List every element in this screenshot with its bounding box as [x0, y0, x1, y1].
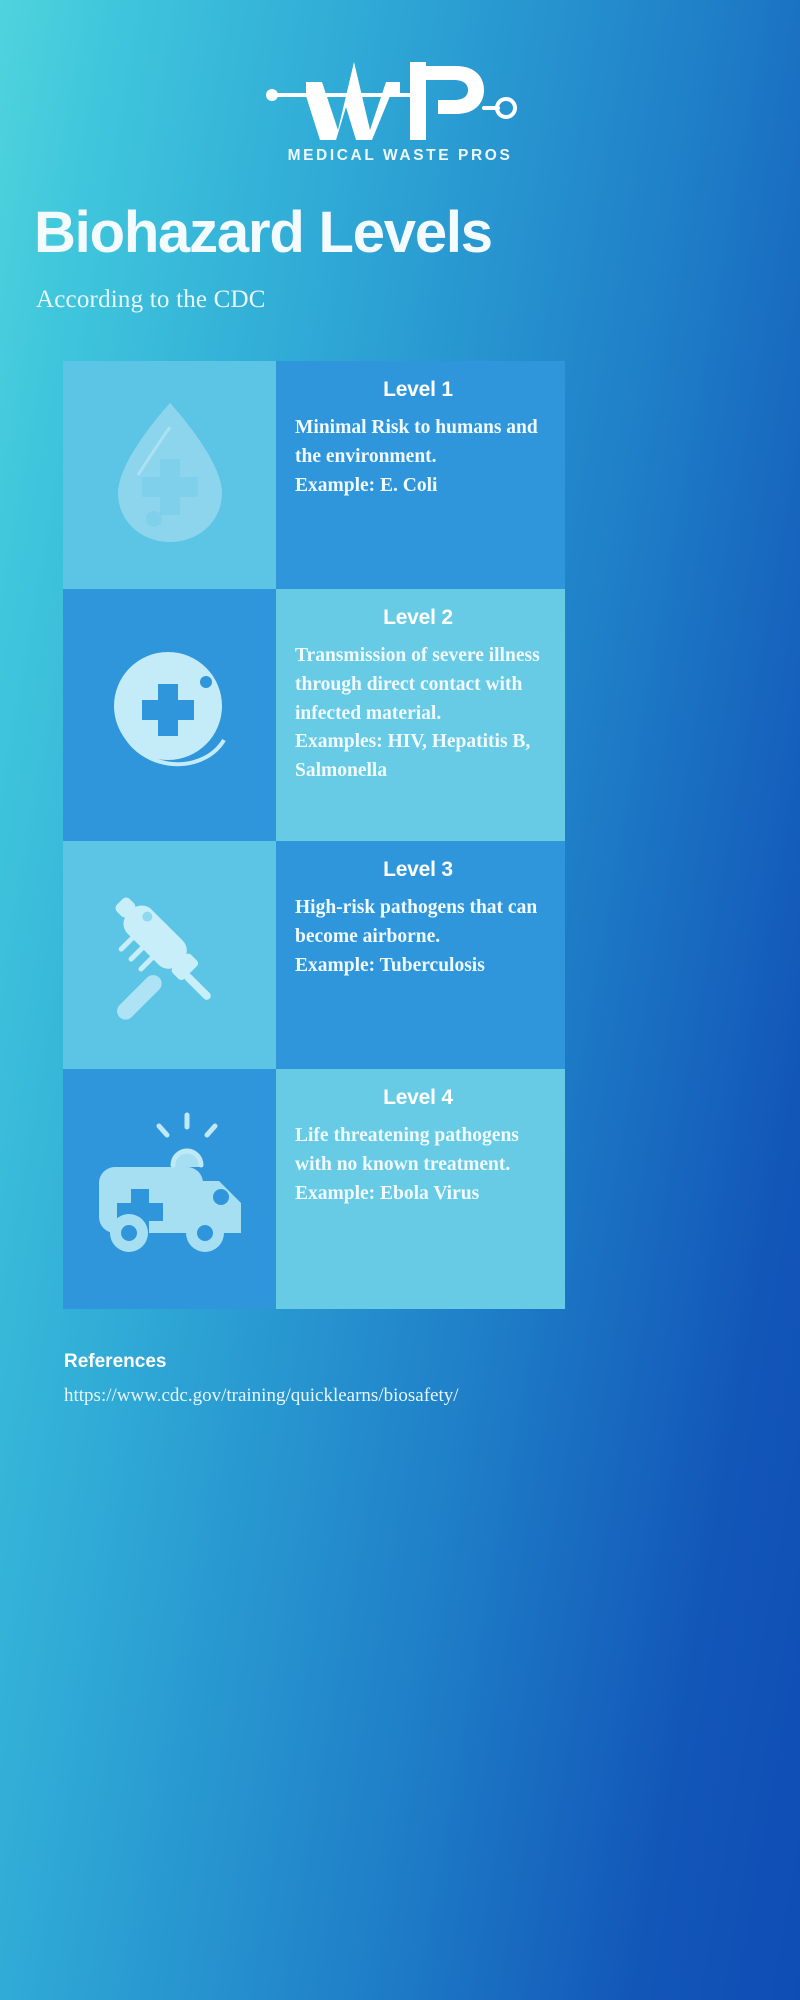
level-3-title: Level 3 [295, 858, 541, 882]
level-4-icon-cell [63, 1069, 276, 1309]
biohazard-levels-grid: Level 1 Minimal Risk to humans and the e… [63, 361, 565, 1309]
ambulance-icon [89, 1111, 251, 1266]
level-3-body: High-risk pathogens that can become airb… [295, 894, 541, 952]
level-row-2: Level 2 Transmission of severe illness t… [63, 589, 565, 841]
references-url[interactable]: https://www.cdc.gov/training/quicklearns… [64, 1382, 564, 1410]
level-row-4: Level 4 Life threatening pathogens with … [63, 1069, 565, 1309]
level-2-title: Level 2 [295, 606, 541, 630]
level-1-example: Example: E. Coli [295, 472, 541, 501]
level-3-text-cell: Level 3 High-risk pathogens that can bec… [276, 841, 565, 1069]
level-2-icon-cell [63, 589, 276, 841]
level-row-1: Level 1 Minimal Risk to humans and the e… [63, 361, 565, 589]
blood-drop-icon [104, 397, 236, 552]
page-title: Biohazard Levels [34, 203, 800, 264]
level-2-text-cell: Level 2 Transmission of severe illness t… [276, 589, 565, 841]
level-1-title: Level 1 [295, 378, 541, 402]
page-subtitle: According to the CDC [36, 286, 800, 314]
references-heading: References [64, 1351, 584, 1373]
level-4-body: Life threatening pathogens with no known… [295, 1122, 541, 1180]
level-row-3: Level 3 High-risk pathogens that can bec… [63, 841, 565, 1069]
level-2-example: Examples: HIV, Hepatitis B, Salmonella [295, 728, 541, 786]
references-section: References https://www.cdc.gov/training/… [64, 1351, 584, 1410]
mwp-waveform-logo [260, 52, 540, 140]
level-2-body: Transmission of severe illness through d… [295, 642, 541, 729]
level-3-icon-cell [63, 841, 276, 1069]
level-4-title: Level 4 [295, 1086, 541, 1110]
medical-cross-circle-icon [102, 644, 238, 785]
level-1-icon-cell [63, 361, 276, 589]
brand-tagline: MEDICAL WASTE PROS [288, 147, 513, 165]
syringe-icon [95, 877, 245, 1032]
level-4-example: Example: Ebola Virus [295, 1180, 541, 1209]
level-1-body: Minimal Risk to humans and the environme… [295, 414, 541, 472]
level-3-example: Example: Tuberculosis [295, 952, 541, 981]
level-1-text-cell: Level 1 Minimal Risk to humans and the e… [276, 361, 565, 589]
brand-logo: MEDICAL WASTE PROS [0, 0, 800, 165]
level-4-text-cell: Level 4 Life threatening pathogens with … [276, 1069, 565, 1309]
